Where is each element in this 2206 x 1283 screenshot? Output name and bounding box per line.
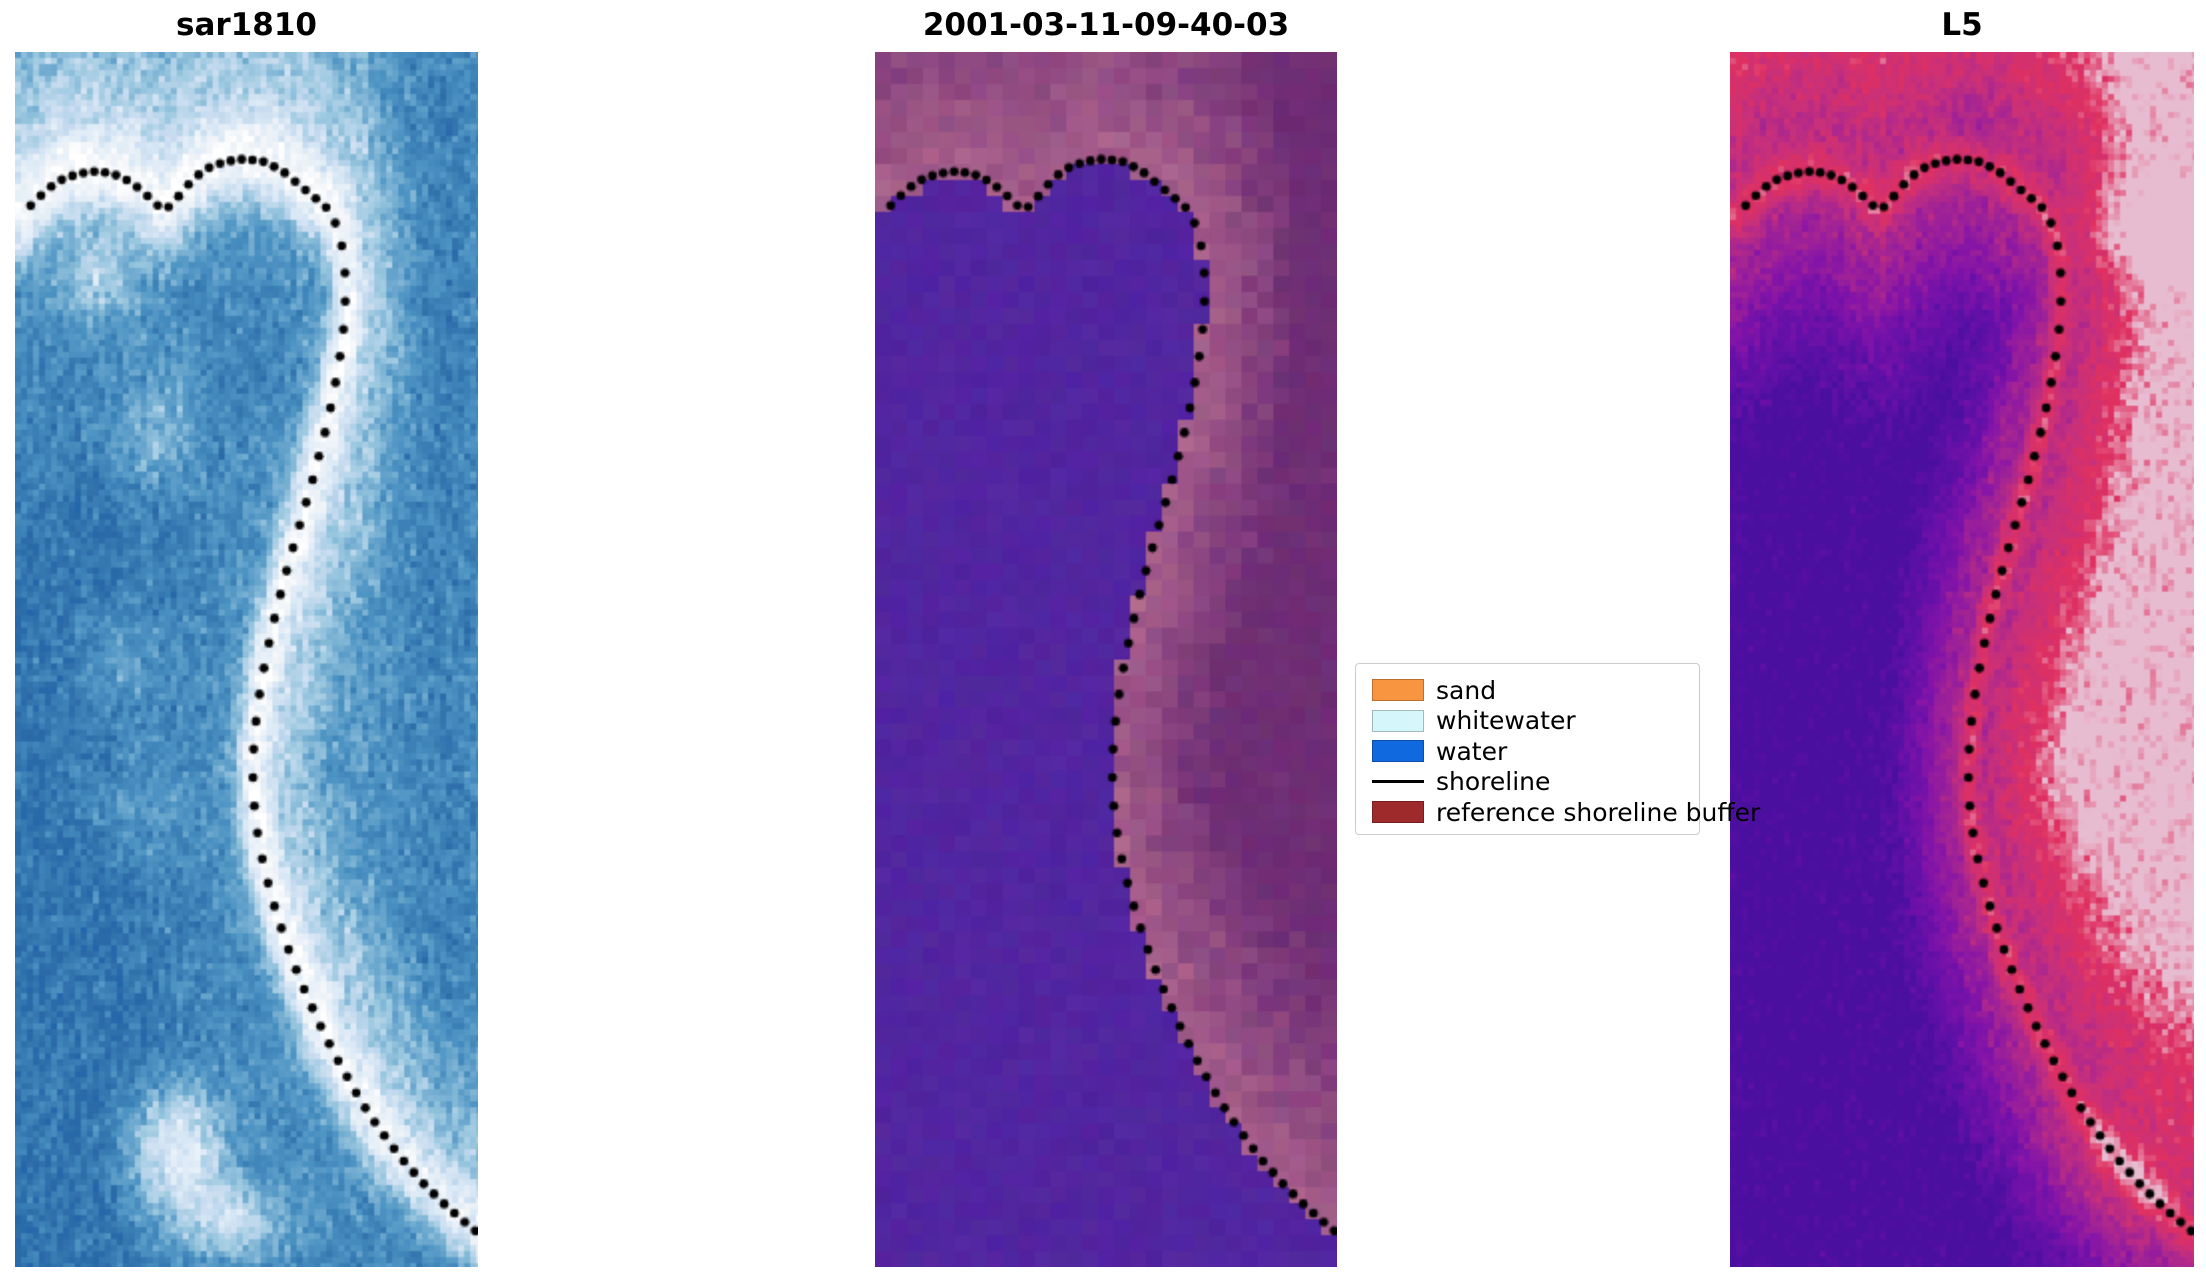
panel-title-sar: sar1810: [15, 10, 478, 41]
line-swatch-icon: [1369, 767, 1427, 798]
color-swatch-icon: [1369, 706, 1427, 737]
legend-item-sand[interactable]: sand: [1369, 675, 1685, 706]
panel-classified-raster: [875, 52, 1337, 1267]
panel-sar1810-raster: [15, 52, 478, 1267]
color-swatch-icon: [1369, 736, 1427, 767]
panel-sar1810[interactable]: [15, 52, 478, 1267]
panel-title-classified: 2001-03-11-09-40-03: [875, 10, 1337, 41]
legend-box[interactable]: sand whitewater water shoreline referenc…: [1355, 663, 1700, 835]
panel-l5[interactable]: [1730, 52, 2194, 1267]
legend-label-sand: sand: [1436, 678, 1496, 703]
legend-label-whitewater: whitewater: [1436, 708, 1576, 733]
legend-item-shoreline[interactable]: shoreline: [1369, 767, 1685, 798]
figure-canvas: sar1810 2001-03-11-09-40-03 L5 sand whit…: [0, 0, 2206, 1283]
color-swatch-icon: [1369, 675, 1427, 706]
panel-l5-raster: [1730, 52, 2194, 1267]
legend-item-water[interactable]: water: [1369, 736, 1685, 767]
legend-item-whitewater[interactable]: whitewater: [1369, 706, 1685, 737]
panel-classified[interactable]: [875, 52, 1337, 1267]
color-swatch-icon: [1369, 797, 1427, 828]
legend-label-water: water: [1436, 739, 1507, 764]
legend-label-reference-buffer: reference shoreline buffer: [1436, 800, 1760, 825]
panel-title-l5: L5: [1730, 10, 2194, 41]
legend-item-reference-buffer[interactable]: reference shoreline buffer: [1369, 797, 1685, 828]
legend-label-shoreline: shoreline: [1436, 769, 1550, 794]
